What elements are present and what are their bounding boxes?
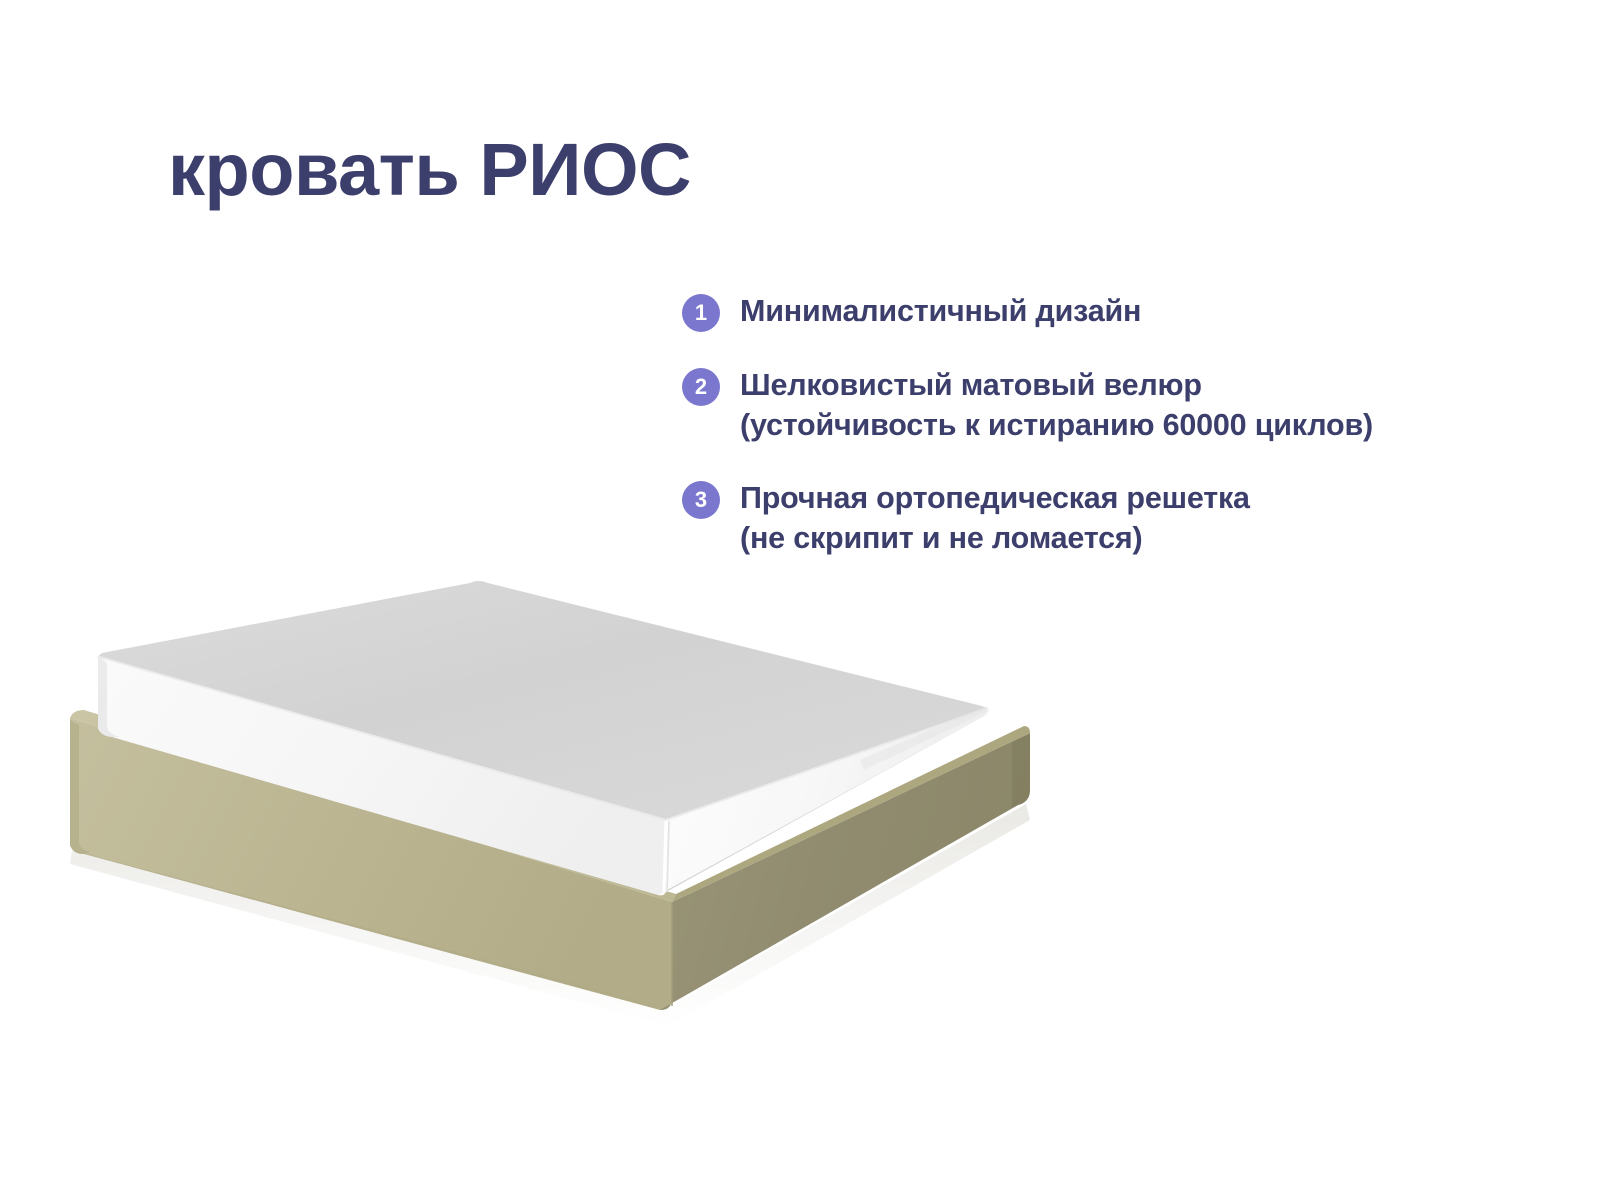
bed-product-image bbox=[0, 520, 1120, 1080]
feature-line-2-2: (устойчивость к истиранию 60000 циклов) bbox=[740, 406, 1373, 446]
product-card: кровать РИОС 1 Минималистичный дизайн 2 … bbox=[0, 0, 1600, 1200]
mattress-corner-seam bbox=[664, 820, 666, 892]
feature-badge-1: 1 bbox=[682, 294, 720, 332]
feature-line-1-1: Минималистичный дизайн bbox=[740, 294, 1141, 328]
feature-text-2: Шелковистый матовый велюр (устойчивость … bbox=[740, 366, 1373, 445]
feature-badge-2: 2 bbox=[682, 368, 720, 406]
feature-text-1: Минималистичный дизайн bbox=[740, 292, 1141, 332]
bed-base-right-edge-shade bbox=[1012, 734, 1030, 808]
feature-item-2: 2 Шелковистый матовый велюр (устойчивост… bbox=[682, 366, 1512, 445]
feature-line-3-1: Прочная ортопедическая решетка bbox=[740, 481, 1250, 515]
feature-list: 1 Минималистичный дизайн 2 Шелковистый м… bbox=[682, 292, 1512, 559]
feature-badge-3: 3 bbox=[682, 481, 720, 519]
bed-vector bbox=[0, 520, 1120, 1080]
feature-line-2-1: Шелковистый матовый велюр bbox=[740, 368, 1202, 402]
feature-item-1: 1 Минималистичный дизайн bbox=[682, 292, 1512, 332]
page-title: кровать РИОС bbox=[168, 133, 691, 207]
